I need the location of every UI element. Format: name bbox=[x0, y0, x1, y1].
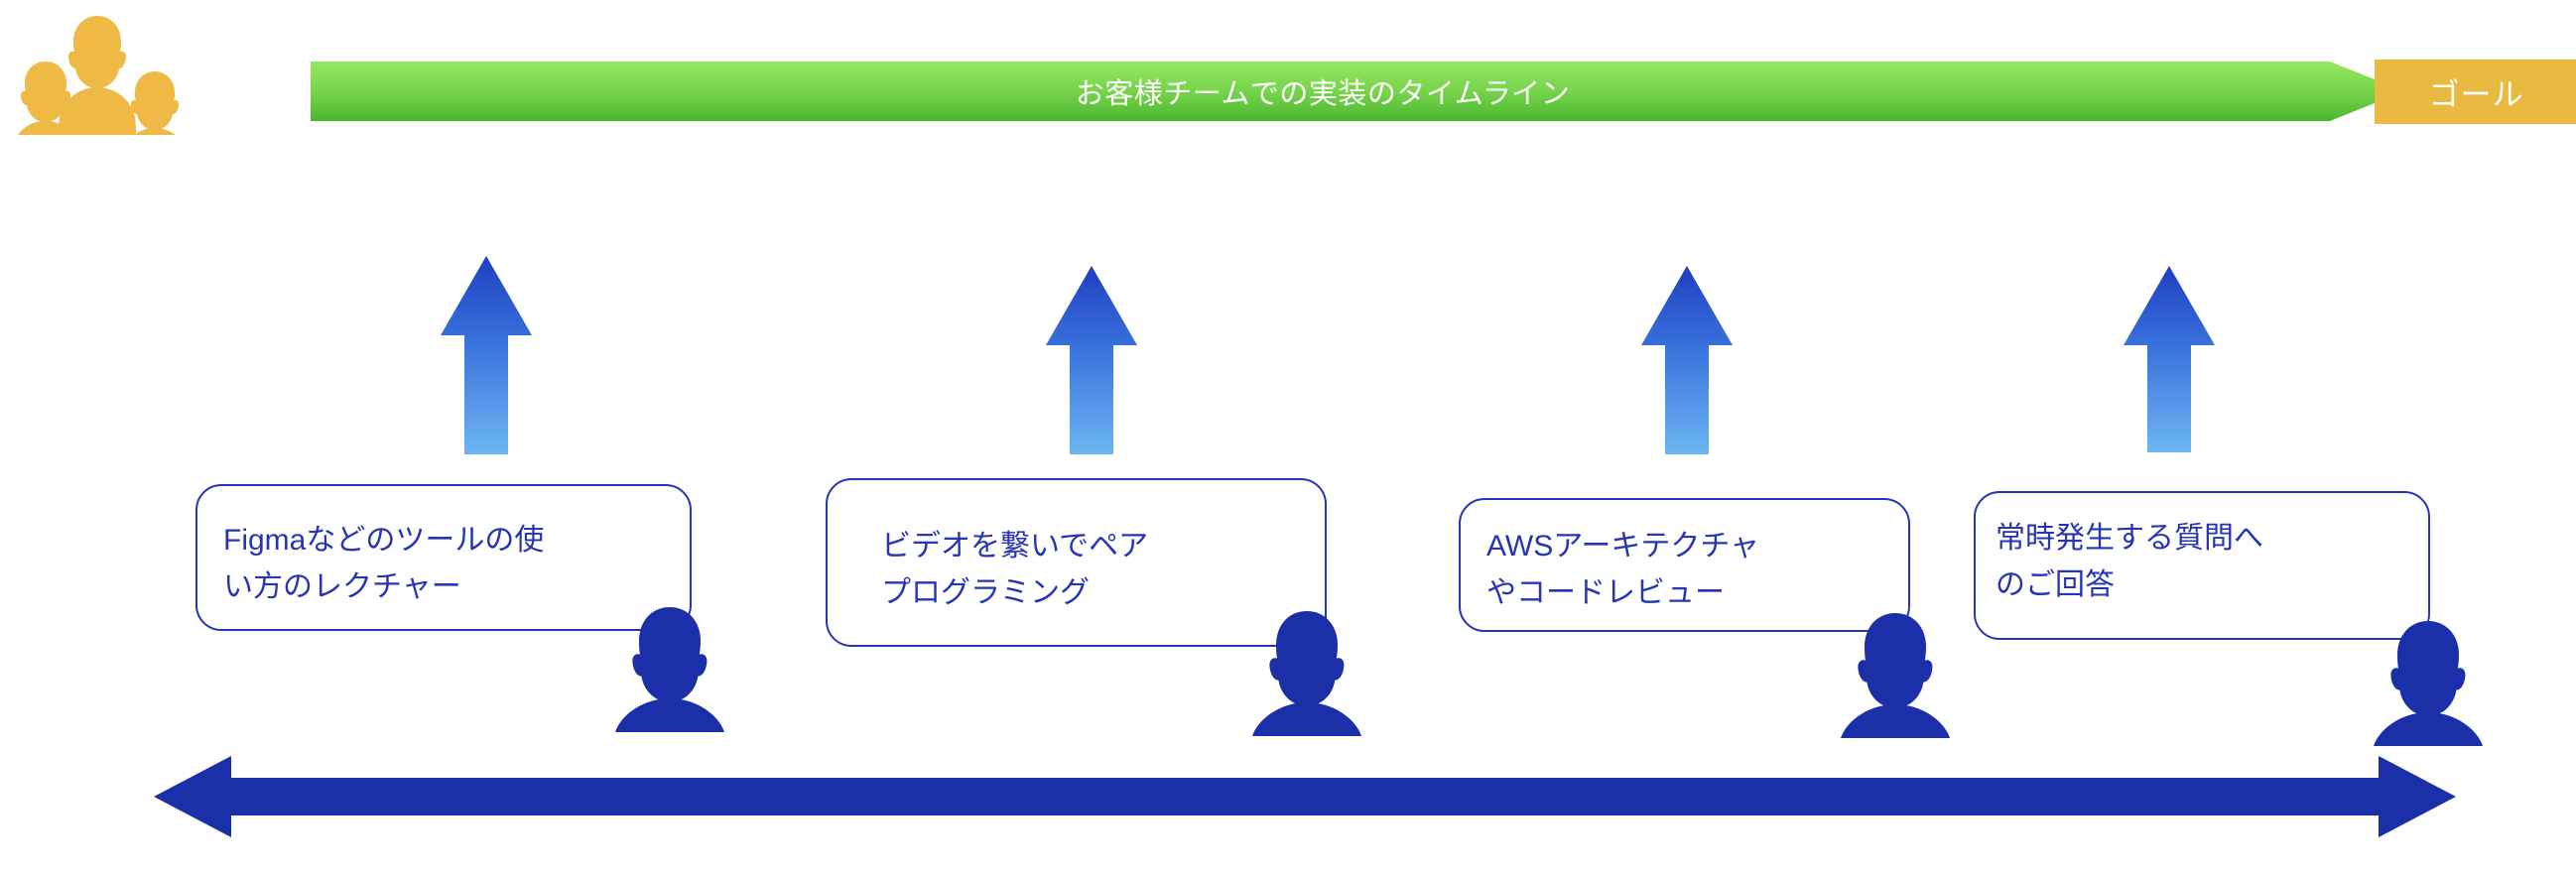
person-silhouette-icon-1 bbox=[605, 603, 734, 732]
banner-title-text: お客様チームでの実装のタイムライン bbox=[1076, 70, 1571, 112]
person-silhouette-icon-2 bbox=[1242, 607, 1371, 736]
milestone-text-4: 常時発生する質問へ のご回答 bbox=[1996, 516, 2432, 608]
person-silhouette-icon-4 bbox=[2364, 617, 2493, 746]
people-group-icon bbox=[6, 8, 204, 135]
milestone-text-2: ビデオを繋いでペア プログラミング bbox=[881, 524, 1338, 616]
arrow-up-icon-4 bbox=[2124, 266, 2215, 452]
person-silhouette-icon-3 bbox=[1831, 609, 1960, 738]
goal-label: ゴール bbox=[2429, 69, 2524, 114]
arrow-up-icon-2 bbox=[1046, 266, 1137, 454]
arrow-up-icon-3 bbox=[1641, 266, 1733, 454]
page-title: お客様チームでの実装のタイムライン bbox=[311, 62, 2335, 121]
double-headed-arrow-icon bbox=[154, 756, 2456, 837]
milestone-text-1: Figmaなどのツールの使 い方のレクチャー bbox=[223, 518, 690, 610]
milestone-text-3: AWSアーキテクチャ やコードレビュー bbox=[1486, 524, 1913, 616]
goal-box: ゴール bbox=[2375, 60, 2576, 124]
arrow-up-icon-1 bbox=[441, 256, 532, 454]
diagram-canvas: お客様チームでの実装のタイムライン ゴール bbox=[0, 0, 2576, 875]
